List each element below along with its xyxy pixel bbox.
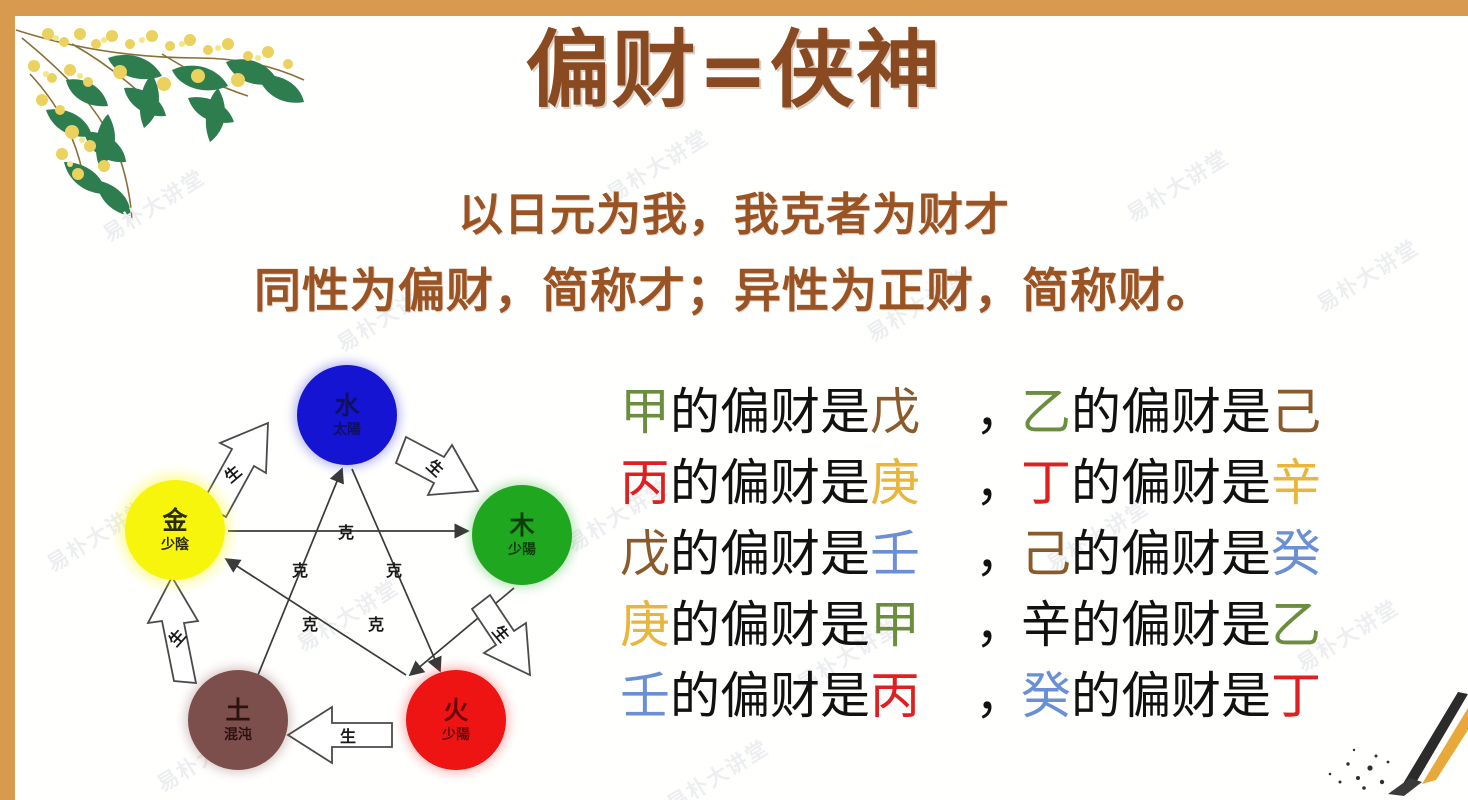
mapping-row: 甲 的偏财是 戊 ， 乙 的偏财是 己: [620, 372, 1400, 443]
element-node-wood-label: 木: [509, 513, 534, 538]
gan-object: 壬: [870, 514, 920, 586]
element-node-metal-label: 金: [162, 508, 187, 533]
gan-subject: 庚: [620, 585, 670, 657]
element-node-water[interactable]: 水 太陽: [297, 365, 397, 465]
mapping-right: 辛 的偏财是 乙: [1021, 585, 1321, 657]
mapping-row: 戊 的偏财是 壬 ， 己 的偏财是 癸: [620, 514, 1400, 585]
ke-label-fire-metal: 克: [368, 611, 384, 635]
element-node-metal[interactable]: 金 少陰: [125, 480, 225, 580]
page-title: 偏财=侠神: [0, 26, 1468, 114]
mapping-middle-text: 的偏财是: [1071, 514, 1271, 586]
mapping-middle-text: 的偏财是: [1071, 585, 1271, 657]
ke-label-metal-wood: 克: [338, 519, 354, 543]
element-node-earth-sublabel: 混沌: [224, 728, 252, 742]
element-node-earth[interactable]: 土 混沌: [188, 670, 288, 770]
gan-object: 丙: [870, 656, 920, 728]
mapping-middle-text: 的偏财是: [1071, 443, 1271, 515]
gan-object: 癸: [1271, 514, 1321, 586]
mapping-left: 甲 的偏财是 戊: [620, 372, 975, 444]
gan-subject: 癸: [1021, 656, 1071, 728]
gan-object: 己: [1271, 372, 1321, 444]
gan-object: 戊: [870, 372, 920, 444]
mapping-middle-text: 的偏财是: [1071, 372, 1271, 444]
mapping-left: 丙 的偏财是 庚: [620, 443, 975, 515]
mapping-left: 壬 的偏财是 丙: [620, 656, 975, 728]
row-comma: ，: [975, 443, 1021, 515]
ke-label-wood-earth: 克: [292, 557, 308, 581]
five-elements-diagram: 生 生 生 生 生 克 克 克 克 克 水 太陽 木 少陽 火 少陽 土 混沌 …: [110, 345, 610, 795]
element-node-wood-sublabel: 少陽: [508, 543, 536, 557]
mapping-row: 庚 的偏财是 甲 ， 辛 的偏财是 乙: [620, 585, 1400, 656]
mapping-right: 癸 的偏财是 丁: [1021, 656, 1321, 728]
calligraphy-brush-illustration-icon: [1318, 690, 1468, 800]
mapping-middle-text: 的偏财是: [670, 443, 870, 515]
sheng-label-fire-earth: 生: [340, 723, 356, 747]
element-node-fire-sublabel: 少陽: [442, 728, 470, 742]
ke-label-water-fire: 克: [302, 611, 318, 635]
mapping-row: 丙 的偏财是 庚 ， 丁 的偏财是 辛: [620, 443, 1400, 514]
gan-subject: 甲: [620, 372, 670, 444]
mapping-middle-text: 的偏财是: [670, 372, 870, 444]
element-node-water-sublabel: 太陽: [333, 423, 361, 437]
gan-object: 丁: [1271, 656, 1321, 728]
row-comma: ，: [975, 585, 1021, 657]
row-comma: ，: [975, 656, 1021, 728]
slide-canvas: 偏财=侠神 以日元为我，我克者为财才 同性为偏财，简称才；异性为正财，简称财。: [0, 0, 1468, 800]
watermark: 易朴大讲堂: [661, 732, 774, 800]
row-comma: ，: [975, 514, 1021, 586]
mapping-row: 壬 的偏财是 丙 ， 癸 的偏财是 丁: [620, 656, 1400, 727]
mapping-middle-text: 的偏财是: [1071, 656, 1271, 728]
gan-object: 乙: [1271, 585, 1321, 657]
ke-label-earth-water: 克: [386, 557, 402, 581]
mapping-middle-text: 的偏财是: [670, 656, 870, 728]
element-node-earth-label: 土: [225, 698, 250, 723]
mapping-right: 丁 的偏财是 辛: [1021, 443, 1321, 515]
gan-subject: 壬: [620, 656, 670, 728]
gan-object: 辛: [1271, 443, 1321, 515]
gan-object: 甲: [870, 585, 920, 657]
mapping-left: 戊 的偏财是 壬: [620, 514, 975, 586]
mapping-middle-text: 的偏财是: [670, 585, 870, 657]
gan-subject: 丁: [1021, 443, 1071, 515]
gan-subject: 戊: [620, 514, 670, 586]
gan-object: 庚: [870, 443, 920, 515]
element-node-fire-label: 火: [443, 698, 468, 723]
gan-subject: 己: [1021, 514, 1071, 586]
pian-cai-mapping-list: 甲 的偏财是 戊 ， 乙 的偏财是 己 丙 的偏财是 庚 ， 丁 的偏财是 辛: [620, 372, 1400, 727]
element-node-wood[interactable]: 木 少陽: [472, 485, 572, 585]
gan-subject: 辛: [1021, 585, 1071, 657]
element-node-metal-sublabel: 少陰: [161, 538, 189, 552]
mapping-right: 己 的偏财是 癸: [1021, 514, 1321, 586]
gan-subject: 乙: [1021, 372, 1071, 444]
row-comma: ，: [975, 372, 1021, 444]
subtitle-line-1: 以日元为我，我克者为财才: [0, 178, 1468, 243]
gan-subject: 丙: [620, 443, 670, 515]
element-node-fire[interactable]: 火 少陽: [406, 670, 506, 770]
mapping-right: 乙 的偏财是 己: [1021, 372, 1321, 444]
subtitle-line-2: 同性为偏财，简称才；异性为正财，简称财。: [0, 252, 1468, 321]
mapping-middle-text: 的偏财是: [670, 514, 870, 586]
element-node-water-label: 水: [334, 393, 359, 418]
mapping-left: 庚 的偏财是 甲: [620, 585, 975, 657]
